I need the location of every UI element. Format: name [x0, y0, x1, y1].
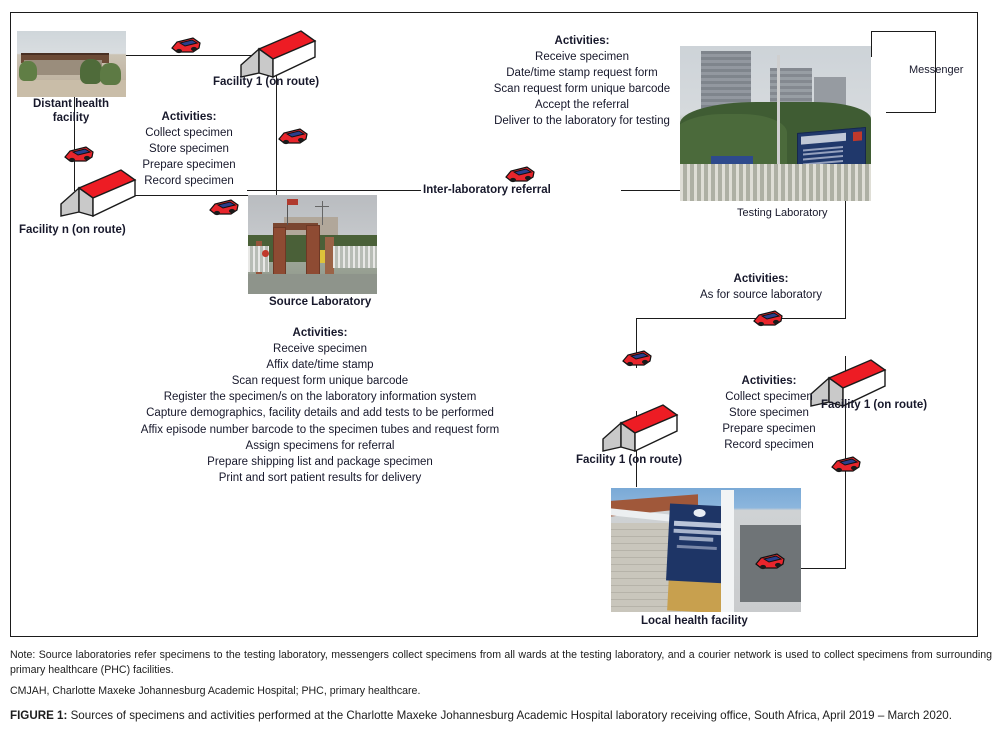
courier-car-icon	[207, 196, 241, 218]
caption-figure-label: FIGURE 1:	[10, 709, 67, 722]
courier-car-icon	[620, 347, 654, 369]
label-facility-1-on-route-left: Facility 1 (on route)	[576, 453, 682, 467]
label-testing-laboratory: Testing Laboratory	[737, 207, 828, 220]
activities-source-laboratory: Activities: Receive specimen Affix date/…	[111, 325, 529, 486]
activities-as-for-source-laboratory: Activities: As for source laboratory	[661, 271, 861, 303]
activities-item: Prepare specimen	[119, 157, 259, 173]
courier-car-icon	[753, 550, 787, 572]
activities-item: Scan request form unique barcode	[461, 81, 703, 97]
activities-item: Assign specimens for referral	[111, 438, 529, 454]
connector-messenger-left-stub	[871, 31, 872, 57]
courier-car-icon	[62, 143, 96, 165]
connector-messenger-top	[871, 31, 936, 32]
label-distant-health-facility-line2: facility	[15, 111, 127, 125]
courier-car-icon	[829, 453, 863, 475]
label-distant-health-facility-line1: Distant health	[15, 97, 127, 111]
label-facility-1-on-route-top: Facility 1 (on route)	[213, 75, 319, 89]
activities-item: Date/time stamp request form	[461, 65, 703, 81]
activities-phc-route: Activities: Collect specimen Store speci…	[699, 373, 839, 453]
connector-phc-top-horizontal	[636, 318, 846, 319]
courier-car-icon	[169, 34, 203, 56]
activities-item: Capture demographics, facility details a…	[111, 405, 529, 421]
activities-item: Accept the referral	[461, 97, 703, 113]
photo-distant-health-facility	[17, 31, 126, 97]
activities-item: Record specimen	[699, 437, 839, 453]
connector-messenger-bottom	[886, 112, 936, 113]
activities-title: Activities:	[119, 109, 259, 125]
activities-title: Activities:	[461, 33, 703, 49]
label-distant-health-facility: Distant health facility	[15, 97, 127, 125]
courier-car-icon	[503, 163, 537, 185]
activities-title: Activities:	[699, 373, 839, 389]
caption-abbreviations: CMJAH, Charlotte Maxeke Johannesburg Aca…	[10, 684, 992, 699]
caption-zone: Note: Source laboratories refer specimen…	[10, 648, 992, 725]
caption-figure: FIGURE 1: Sources of specimens and activ…	[10, 708, 992, 725]
caption-figure-text: Sources of specimens and activities perf…	[67, 709, 952, 722]
activities-item: Collect specimen	[119, 125, 259, 141]
label-inter-laboratory-referral: Inter-laboratory referral	[423, 183, 551, 197]
facility-building-icon	[601, 403, 679, 453]
activities-item: Receive specimen	[111, 341, 529, 357]
activities-item: Register the specimen/s on the laborator…	[111, 389, 529, 405]
activities-item: Receive specimen	[461, 49, 703, 65]
activities-item: As for source laboratory	[661, 287, 861, 303]
activities-item: Prepare shipping list and package specim…	[111, 454, 529, 470]
activities-item: Store specimen	[699, 405, 839, 421]
figure-root: Distant health facility Facility n (on r…	[0, 0, 1001, 744]
activities-item: Affix date/time stamp	[111, 357, 529, 373]
label-facility-n-on-route: Facility n (on route)	[19, 223, 126, 237]
photo-testing-laboratory	[680, 46, 871, 201]
activities-item: Print and sort patient results for deliv…	[111, 470, 529, 486]
connector-sourcelab-to-referral	[247, 190, 421, 191]
courier-car-icon	[276, 125, 310, 147]
facility-building-icon	[239, 29, 317, 79]
activities-title: Activities:	[661, 271, 861, 287]
activities-title: Activities:	[111, 325, 529, 341]
activities-item: Deliver to the laboratory for testing	[461, 113, 703, 129]
diagram-frame: Distant health facility Facility n (on r…	[10, 12, 978, 637]
activities-item: Prepare specimen	[699, 421, 839, 437]
photo-source-laboratory	[248, 195, 377, 294]
activities-item: Affix episode number barcode to the spec…	[111, 422, 529, 438]
activities-item: Record specimen	[119, 173, 259, 189]
activities-testing-lab-receiving: Activities: Receive specimen Date/time s…	[461, 33, 703, 130]
courier-car-icon	[751, 307, 785, 329]
label-source-laboratory: Source Laboratory	[269, 295, 371, 309]
caption-note: Note: Source laboratories refer specimen…	[10, 648, 992, 678]
activities-item: Collect specimen	[699, 389, 839, 405]
label-local-health-facility: Local health facility	[641, 614, 748, 628]
activities-item: Scan request form unique barcode	[111, 373, 529, 389]
label-messenger: Messenger	[909, 64, 963, 77]
activities-collection-route: Activities: Collect specimen Store speci…	[119, 109, 259, 189]
connector-referral-to-testinglab	[621, 190, 681, 191]
activities-item: Store specimen	[119, 141, 259, 157]
